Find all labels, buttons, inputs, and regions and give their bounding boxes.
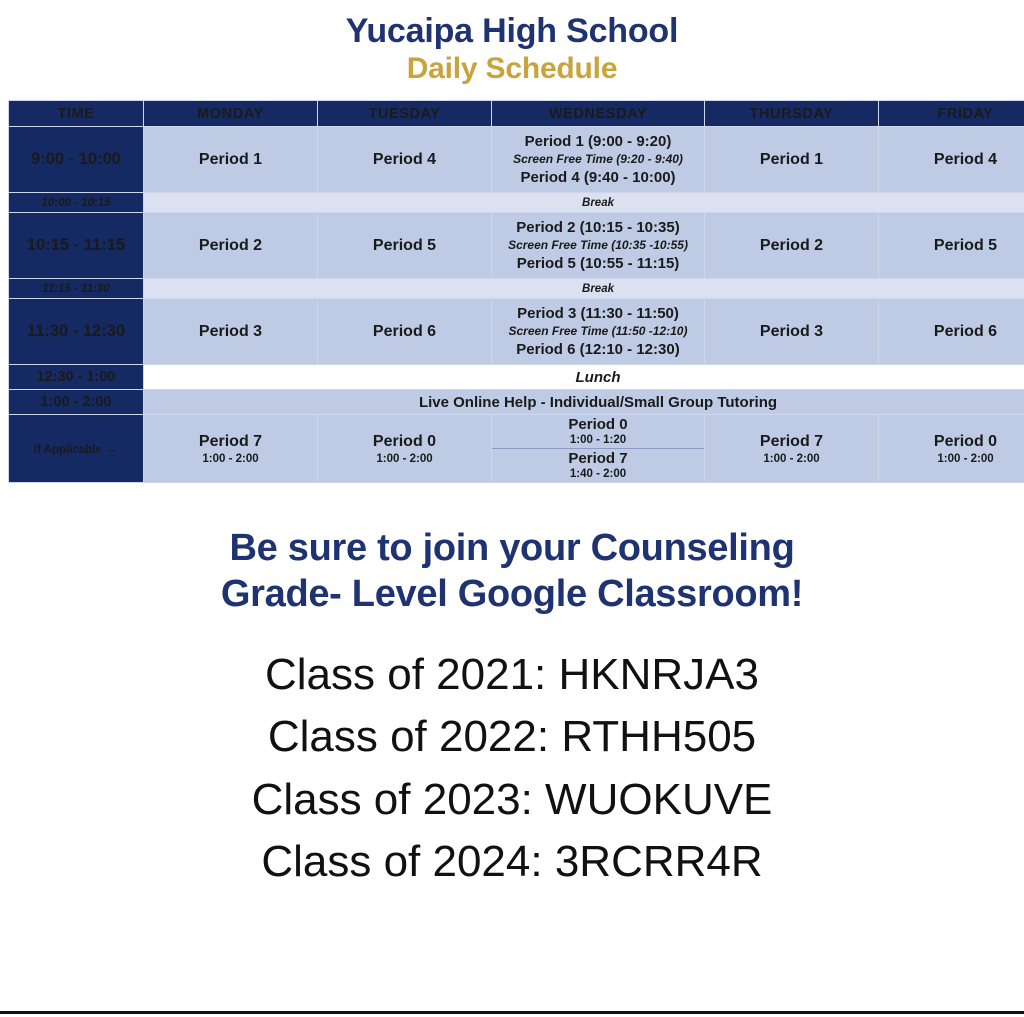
row-time-label: 10:15 - 11:15: [9, 213, 144, 279]
cell-wednesday: Period 1 (9:00 - 9:20) Screen Free Time …: [492, 127, 705, 193]
cell-friday: Period 5: [879, 213, 1024, 279]
column-header-tuesday: TUESDAY: [318, 101, 492, 127]
announcement: Be sure to join your Counseling Grade- L…: [0, 525, 1024, 618]
period-name: Period 7: [568, 450, 627, 467]
wed-line-3: Period 5 (10:55 - 11:15): [517, 255, 680, 272]
wed-line-2: Screen Free Time (9:20 - 9:40): [494, 152, 702, 167]
wed-line-3: Period 6 (12:10 - 12:30): [516, 341, 679, 358]
period-time: 1:40 - 2:00: [570, 468, 626, 480]
cell-thursday: Period 7 1:00 - 2:00: [705, 415, 879, 483]
period-name: Period 0: [318, 433, 491, 451]
cell-thursday: Period 3: [705, 299, 879, 365]
cell-tuesday: Period 0 1:00 - 2:00: [318, 415, 492, 483]
row-time-label: 10:00 - 10:15: [9, 193, 144, 213]
row-time-label: 12:30 - 1:00: [9, 365, 144, 390]
classroom-code-list: Class of 2021: HKNRJA3 Class of 2022: RT…: [0, 644, 1024, 894]
break-label: Break: [144, 193, 1024, 213]
right-arrow-icon: →: [105, 441, 118, 456]
if-applicable-label: If Applicable →: [9, 415, 144, 483]
row-time-label: 9:00 - 10:00: [9, 127, 144, 193]
wed-line-1: Period 2 (10:15 - 10:35): [516, 219, 679, 236]
cell-wednesday: Period 0 1:00 - 1:20 Period 7 1:40 - 2:0…: [492, 415, 705, 483]
tutoring-label: Live Online Help - Individual/Small Grou…: [144, 390, 1024, 415]
schedule-table-container: TIME MONDAY TUESDAY WEDNESDAY THURSDAY F…: [8, 100, 1014, 483]
list-item: Class of 2024: 3RCRR4R: [0, 831, 1024, 893]
bottom-divider: [0, 1011, 1024, 1014]
column-header-thursday: THURSDAY: [705, 101, 879, 127]
wed-optional-bottom: Period 7 1:40 - 2:00: [492, 449, 704, 483]
cell-monday: Period 7 1:00 - 2:00: [144, 415, 318, 483]
cell-friday: Period 6: [879, 299, 1024, 365]
cell-monday: Period 3: [144, 299, 318, 365]
cell-friday: Period 4: [879, 127, 1024, 193]
lunch-label: Lunch: [144, 365, 1024, 390]
table-row-break: 11:15 - 11:30 Break: [9, 279, 1024, 299]
column-header-monday: MONDAY: [144, 101, 318, 127]
wed-line-3: Period 4 (9:40 - 10:00): [520, 169, 675, 186]
break-label: Break: [144, 279, 1024, 299]
period-time: 1:00 - 2:00: [705, 453, 878, 465]
cell-wednesday: Period 3 (11:30 - 11:50) Screen Free Tim…: [492, 299, 705, 365]
cell-thursday: Period 2: [705, 213, 879, 279]
announcement-line-2: Grade- Level Google Classroom!: [0, 571, 1024, 617]
cell-monday: Period 2: [144, 213, 318, 279]
page-title: Yucaipa High School Daily Schedule: [0, 0, 1024, 84]
list-item: Class of 2021: HKNRJA3: [0, 644, 1024, 706]
list-item: Class of 2023: WUOKUVE: [0, 769, 1024, 831]
period-name: Period 0: [879, 433, 1024, 451]
column-header-wednesday: WEDNESDAY: [492, 101, 705, 127]
cell-monday: Period 1: [144, 127, 318, 193]
period-time: 1:00 - 2:00: [144, 453, 317, 465]
if-applicable-text: If Applicable: [34, 444, 102, 456]
table-row: 11:30 - 12:30 Period 3 Period 6 Period 3…: [9, 299, 1024, 365]
table-row-tutoring: 1:00 - 2:00 Live Online Help - Individua…: [9, 390, 1024, 415]
cell-wednesday: Period 2 (10:15 - 10:35) Screen Free Tim…: [492, 213, 705, 279]
announcement-line-1: Be sure to join your Counseling: [0, 525, 1024, 571]
cell-thursday: Period 1: [705, 127, 879, 193]
row-time-label: 11:30 - 12:30: [9, 299, 144, 365]
period-name: Period 7: [705, 433, 878, 451]
cell-tuesday: Period 4: [318, 127, 492, 193]
wed-line-2: Screen Free Time (10:35 -10:55): [494, 238, 702, 253]
school-name: Yucaipa High School: [0, 14, 1024, 48]
column-header-time: TIME: [9, 101, 144, 127]
schedule-flyer: Yucaipa High School Daily Schedule TIME …: [0, 0, 1024, 1017]
table-header-row: TIME MONDAY TUESDAY WEDNESDAY THURSDAY F…: [9, 101, 1024, 127]
table-row-break: 10:00 - 10:15 Break: [9, 193, 1024, 213]
column-header-friday: FRIDAY: [879, 101, 1024, 127]
row-time-label: 11:15 - 11:30: [9, 279, 144, 299]
wed-line-2: Screen Free Time (11:50 -12:10): [494, 324, 702, 339]
period-time: 1:00 - 2:00: [318, 453, 491, 465]
daily-schedule-table: TIME MONDAY TUESDAY WEDNESDAY THURSDAY F…: [8, 100, 1024, 483]
table-row-lunch: 12:30 - 1:00 Lunch: [9, 365, 1024, 390]
cell-friday: Period 0 1:00 - 2:00: [879, 415, 1024, 483]
wed-line-1: Period 3 (11:30 - 11:50): [517, 305, 679, 322]
period-time: 1:00 - 2:00: [879, 453, 1024, 465]
period-name: Period 7: [144, 433, 317, 451]
schedule-subtitle: Daily Schedule: [0, 54, 1024, 84]
wed-line-1: Period 1 (9:00 - 9:20): [525, 133, 672, 150]
cell-tuesday: Period 5: [318, 213, 492, 279]
table-row: 10:15 - 11:15 Period 2 Period 5 Period 2…: [9, 213, 1024, 279]
period-name: Period 0: [568, 416, 627, 433]
period-time: 1:00 - 1:20: [570, 434, 626, 446]
list-item: Class of 2022: RTHH505: [0, 706, 1024, 768]
row-time-label: 1:00 - 2:00: [9, 390, 144, 415]
table-row: 9:00 - 10:00 Period 1 Period 4 Period 1 …: [9, 127, 1024, 193]
table-row-optional: If Applicable → Period 7 1:00 - 2:00 Per…: [9, 415, 1024, 483]
wed-optional-top: Period 0 1:00 - 1:20: [492, 415, 704, 449]
cell-tuesday: Period 6: [318, 299, 492, 365]
